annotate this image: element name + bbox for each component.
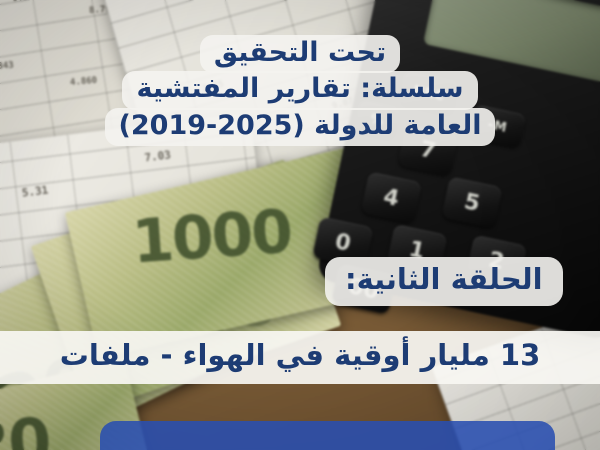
title-banner: تحت التحقيق سلسلة: تقارير المفتشية العام… <box>70 36 530 145</box>
headline-text: 13 مليار أوقية في الهواء - ملفات <box>0 331 600 384</box>
title-line-1: تحت التحقيق <box>200 35 400 73</box>
title-line-3: العامة للدولة (2025-2019) <box>105 108 496 146</box>
episode-label: الحلقة الثانية: <box>325 257 563 306</box>
bottom-accent-bar <box>100 421 555 450</box>
title-line-2: سلسلة: تقارير المفتشية <box>122 71 477 109</box>
thumbnail-canvas: 4.982 8.723 8.790 4.969 1.343 4.860 9.36… <box>0 0 600 450</box>
episode-banner: الحلقة الثانية: <box>325 258 563 305</box>
headline-banner: 13 مليار أوقية في الهواء - ملفات <box>0 332 600 383</box>
